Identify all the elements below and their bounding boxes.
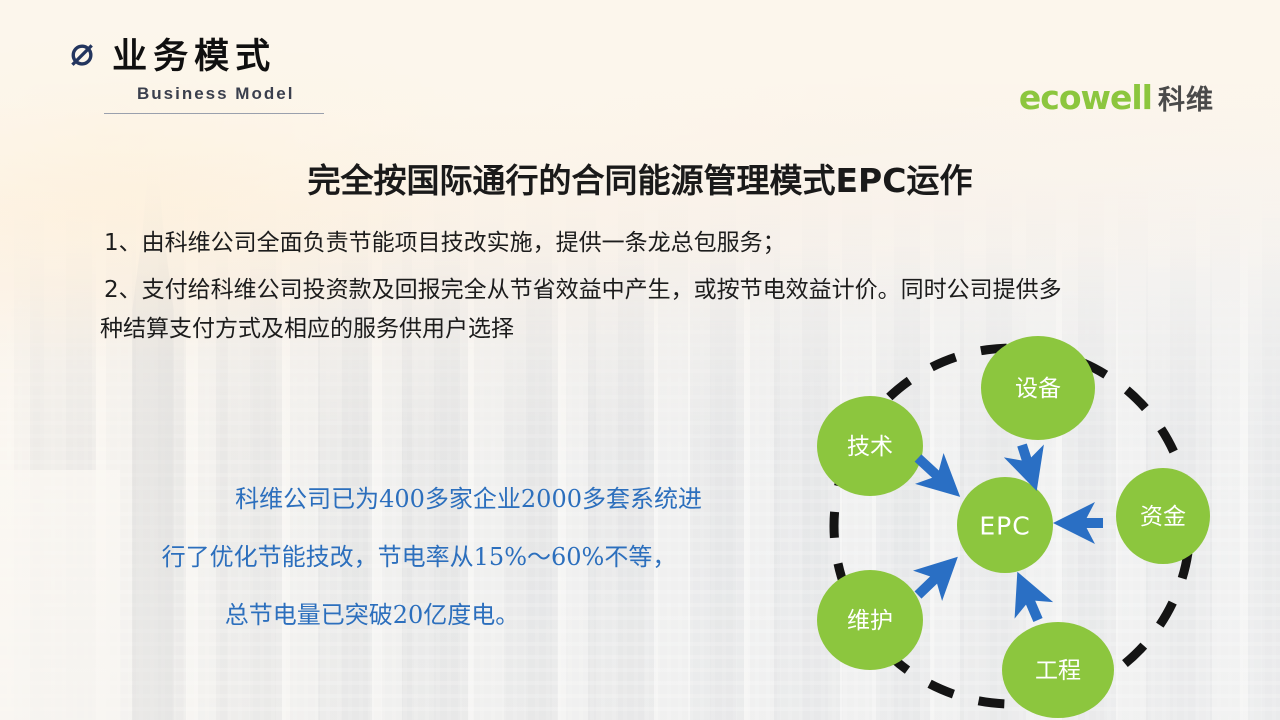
page-subtitle: Business Model [137, 84, 324, 104]
bullet-item-2: 2、支付给科维公司投资款及回报完全从节省效益中产生，或按节电效益计价。同时公司提… [104, 275, 1239, 306]
node-equipment[interactable]: 设备 [981, 336, 1095, 440]
node-technology-label: 技术 [847, 434, 893, 460]
node-epc-label: EPC [979, 512, 1030, 541]
arrow-project-to-epc [1026, 592, 1038, 620]
node-maintenance-label: 维护 [847, 608, 893, 634]
arrow-equipment-to-epc [1022, 445, 1030, 470]
logo-chinese-text: 科维 [1158, 78, 1214, 117]
node-epc-center[interactable]: EPC [957, 477, 1053, 573]
highlight-line-1: 科维公司已为400多家企业2000多套系统进 [152, 470, 712, 528]
diameter-icon: ⌀ [70, 32, 94, 72]
slide-header: ⌀ 业务模式 Business Model [70, 28, 324, 114]
highlight-line-3: 总节电量已突破20亿度电。 [152, 586, 712, 644]
header-divider [104, 113, 324, 114]
logo-latin-text: ecowell [1019, 78, 1152, 117]
highlight-line-2: 行了优化节能技改，节电率从15%～60%不等， [152, 528, 712, 586]
page-title: 业务模式 [112, 28, 276, 79]
node-capital[interactable]: 资金 [1116, 468, 1210, 564]
highlight-paragraph: 科维公司已为400多家企业2000多套系统进 行了优化节能技改，节电率从15%～… [152, 470, 712, 644]
node-technology[interactable]: 技术 [817, 396, 923, 496]
node-capital-label: 资金 [1140, 504, 1186, 530]
epc-cycle-diagram: 设备 资金 工程 维护 技术 EPC [790, 330, 1240, 720]
node-maintenance[interactable]: 维护 [817, 570, 923, 670]
node-project-label: 工程 [1035, 658, 1081, 684]
node-equipment-label: 设备 [1015, 376, 1061, 402]
main-heading: 完全按国际通行的合同能源管理模式EPC运作 [0, 154, 1280, 202]
arrow-maintenance-to-epc [918, 572, 942, 595]
bullet-item-1: 1、由科维公司全面负责节能项目技改实施，提供一条龙总包服务； [104, 228, 1239, 259]
arrow-technology-to-epc [918, 458, 944, 482]
company-logo: ecowell 科维 [1019, 78, 1214, 117]
slide-business-model: ⌀ 业务模式 Business Model ecowell 科维 完全按国际通行… [0, 0, 1280, 720]
node-project[interactable]: 工程 [1002, 622, 1114, 718]
